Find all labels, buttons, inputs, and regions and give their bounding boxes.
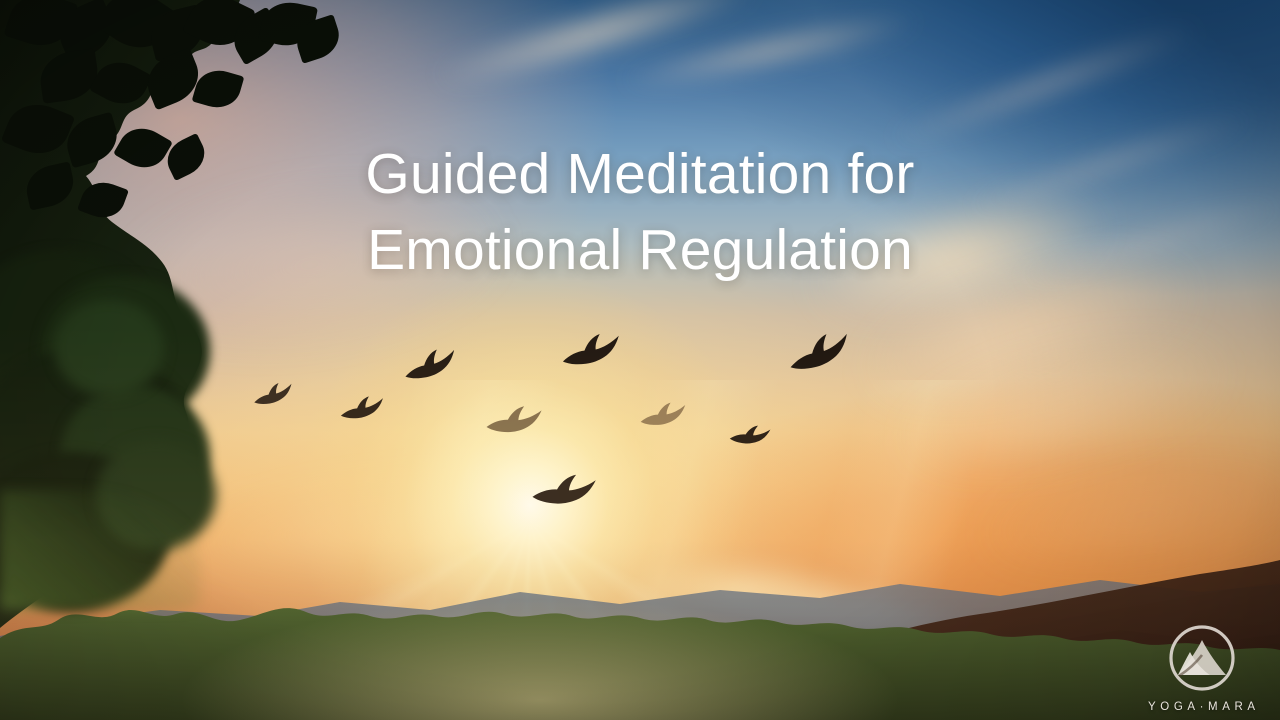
thumbnail-canvas: Guided Meditation for Emotional Regulati… (0, 0, 1280, 720)
brand-logo: YOGA·MARA (1148, 622, 1256, 713)
mountain-in-circle-icon (1166, 622, 1238, 694)
brand-wordmark: YOGA·MARA (1148, 701, 1256, 713)
vignette (0, 0, 1280, 720)
